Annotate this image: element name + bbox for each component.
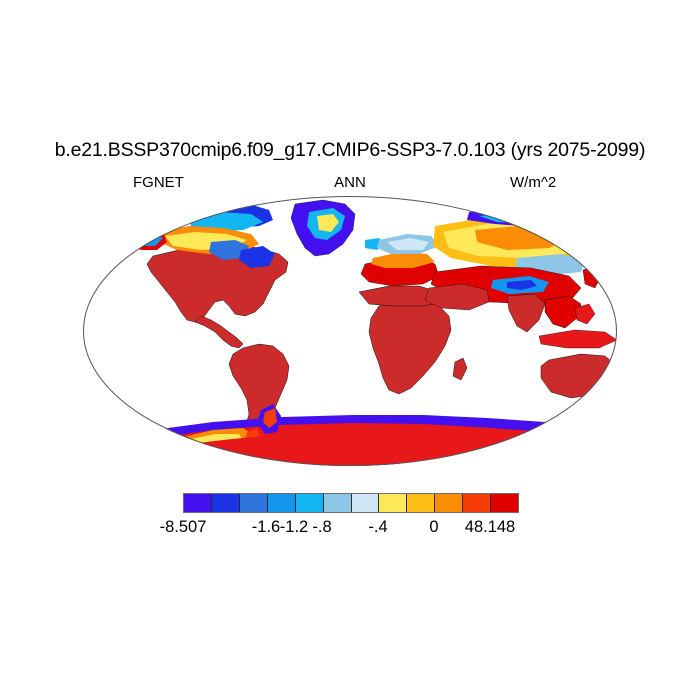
land-antarctica-east-fringe <box>553 428 611 446</box>
colorbar-tick-label-1: -1.6 <box>252 518 280 537</box>
map-landmasses <box>83 196 617 466</box>
colorbar-tick-label-6: 48.148 <box>465 518 515 537</box>
colorbar-segment-0[interactable] <box>184 494 212 512</box>
colorbar-tick-label-2: -1.2 <box>280 518 308 537</box>
colorbar-labels: -8.507-1.6-1.2-.8-.4048.148 <box>0 518 700 540</box>
colorbar-segment-9[interactable] <box>435 494 463 512</box>
units-label: W/m^2 <box>510 174 556 191</box>
land-tasmania <box>589 398 601 408</box>
colorbar-tick-label-0: -8.507 <box>160 518 207 537</box>
colorbar-segment-7[interactable] <box>379 494 407 512</box>
colorbar-tick-label-5: 0 <box>429 518 438 537</box>
colorbar-segment-3[interactable] <box>268 494 296 512</box>
land-antarctica-cyan-fringe <box>109 434 193 456</box>
map-svg <box>83 196 617 466</box>
colorbar-segment-1[interactable] <box>212 494 240 512</box>
land-australia <box>541 354 617 398</box>
page-title: b.e21.BSSP370cmip6.f09_g17.CMIP6-SSP3-7.… <box>0 139 700 162</box>
colorbar-segment-5[interactable] <box>324 494 352 512</box>
colorbar-segment-2[interactable] <box>240 494 268 512</box>
colorbar-tick-label-3: -.8 <box>312 518 331 537</box>
figure-canvas: b.e21.BSSP370cmip6.f09_g17.CMIP6-SSP3-7.… <box>0 0 700 700</box>
colorbar-segment-8[interactable] <box>407 494 435 512</box>
subtitle-row: FGNET ANN W/m^2 <box>0 174 700 192</box>
land-antarctica-cyan-fringe2 <box>113 442 179 458</box>
season-label: ANN <box>0 174 700 191</box>
colorbar-segment-11[interactable] <box>491 494 518 512</box>
land-antarctica-east-fringe2 <box>563 434 603 444</box>
colorbar-segment-10[interactable] <box>463 494 491 512</box>
colorbar-segment-4[interactable] <box>296 494 324 512</box>
world-map <box>83 196 617 466</box>
colorbar[interactable] <box>183 493 519 513</box>
colorbar-segment-6[interactable] <box>352 494 380 512</box>
land-kamchatka-blue <box>577 226 613 254</box>
colorbar-tick-label-4: -.4 <box>368 518 387 537</box>
